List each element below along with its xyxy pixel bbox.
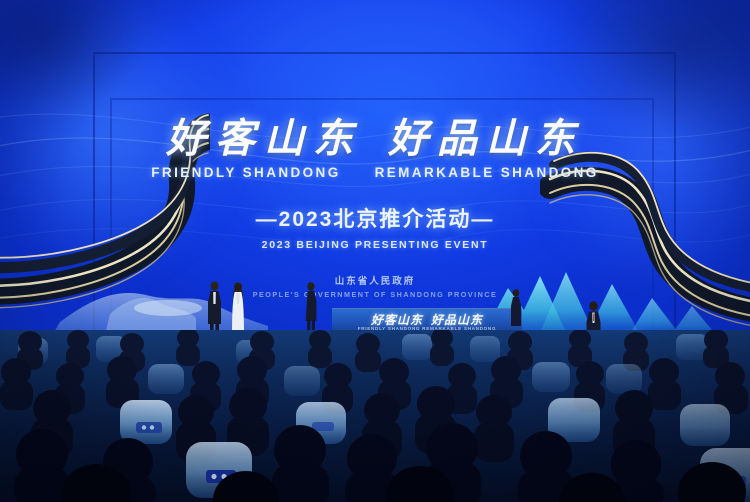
audience-silhouettes [0, 330, 750, 502]
mid-stage-attendee-figure [509, 288, 523, 326]
podium-cn-right: 好品山东 [431, 313, 483, 327]
podium-cn-left: 好客山东 [371, 313, 423, 327]
stage-photo: 好客山东好品山东 FRIENDLY SHANDONGREMARKABLE SHA… [0, 0, 750, 502]
speaker-figure [303, 281, 319, 331]
audience-area [0, 330, 750, 502]
